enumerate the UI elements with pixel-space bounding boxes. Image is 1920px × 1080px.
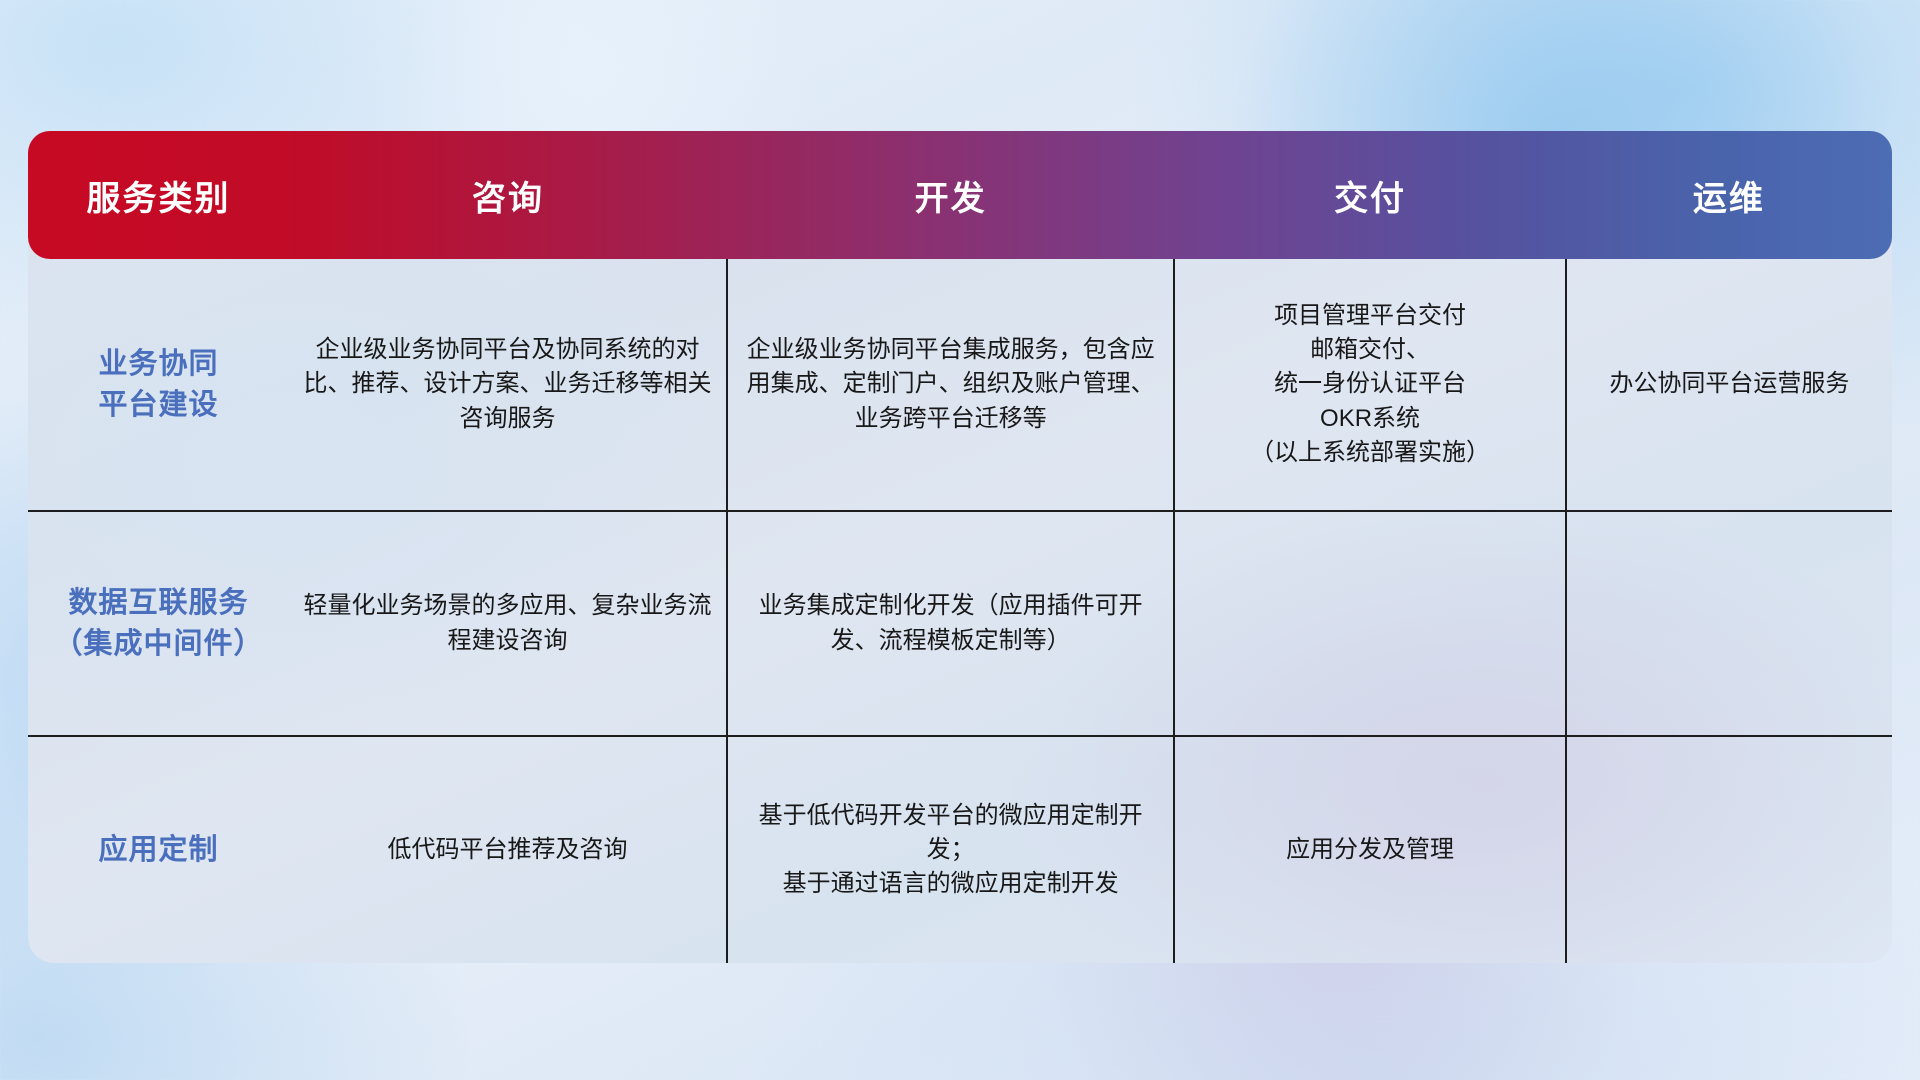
cell-consulting-row3: 低代码平台推荐及咨询: [289, 736, 727, 963]
cell-operations-row3: [1566, 736, 1892, 963]
cell-delivery-row2: [1174, 511, 1565, 736]
table-row: 业务协同 平台建设 企业级业务协同平台及协同系统的对比、推荐、设计方案、业务迁移…: [28, 259, 1892, 511]
delivery-line: 项目管理平台交付: [1189, 299, 1550, 333]
column-header-development-label: 开发: [915, 180, 987, 218]
category-line: 平台建设: [42, 385, 275, 425]
development-line: 基于低代码开发平台的微应用定制开发；: [742, 799, 1159, 867]
category-line: （集成中间件）: [42, 624, 275, 664]
column-header-consulting-label: 咨询: [472, 180, 544, 218]
cell-consulting-row2: 轻量化业务场景的多应用、复杂业务流程建设咨询: [289, 511, 727, 736]
column-header-delivery: 交付: [1174, 131, 1565, 259]
category-line: 数据互联服务: [42, 583, 275, 623]
cell-delivery-row3: 应用分发及管理: [1174, 736, 1565, 963]
service-matrix-table: 服务类别 咨询 开发 交付 运维 业务协同: [28, 131, 1892, 963]
cell-development-row3: 基于低代码开发平台的微应用定制开发； 基于通过语言的微应用定制开发: [727, 736, 1174, 963]
column-header-development: 开发: [727, 131, 1174, 259]
row-category-business-collaboration: 业务协同 平台建设: [28, 259, 289, 511]
column-header-operations-label: 运维: [1693, 180, 1765, 218]
category-line: 业务协同: [42, 344, 275, 384]
development-line: 基于通过语言的微应用定制开发: [742, 867, 1159, 901]
delivery-line: OKR系统: [1189, 402, 1550, 436]
row-category-app-customization: 应用定制: [28, 736, 289, 963]
service-matrix-panel: 服务类别 咨询 开发 交付 运维 业务协同: [28, 131, 1892, 963]
cell-consulting-row1: 企业级业务协同平台及协同系统的对比、推荐、设计方案、业务迁移等相关咨询服务: [289, 259, 727, 511]
column-header-operations: 运维: [1566, 131, 1892, 259]
cell-operations-row2: [1566, 511, 1892, 736]
column-header-category: 服务类别: [28, 131, 289, 259]
column-header-delivery-label: 交付: [1334, 180, 1406, 218]
cell-delivery-row1: 项目管理平台交付 邮箱交付、 统一身份认证平台 OKR系统 （以上系统部署实施）: [1174, 259, 1565, 511]
column-header-category-label: 服务类别: [86, 180, 230, 218]
table-row: 数据互联服务 （集成中间件） 轻量化业务场景的多应用、复杂业务流程建设咨询 业务…: [28, 511, 1892, 736]
row-category-data-interconnect: 数据互联服务 （集成中间件）: [28, 511, 289, 736]
cell-development-row1: 企业级业务协同平台集成服务，包含应用集成、定制门户、组织及账户管理、业务跨平台迁…: [727, 259, 1174, 511]
table-header-row: 服务类别 咨询 开发 交付 运维: [28, 131, 1892, 259]
delivery-line: 邮箱交付、: [1189, 333, 1550, 367]
cell-development-row2: 业务集成定制化开发（应用插件可开发、流程模板定制等）: [727, 511, 1174, 736]
delivery-line: （以上系统部署实施）: [1189, 436, 1550, 470]
table-row: 应用定制 低代码平台推荐及咨询 基于低代码开发平台的微应用定制开发； 基于通过语…: [28, 736, 1892, 963]
category-line: 应用定制: [42, 830, 275, 870]
cell-operations-row1: 办公协同平台运营服务: [1566, 259, 1892, 511]
column-header-consulting: 咨询: [289, 131, 727, 259]
delivery-line: 统一身份认证平台: [1189, 367, 1550, 401]
